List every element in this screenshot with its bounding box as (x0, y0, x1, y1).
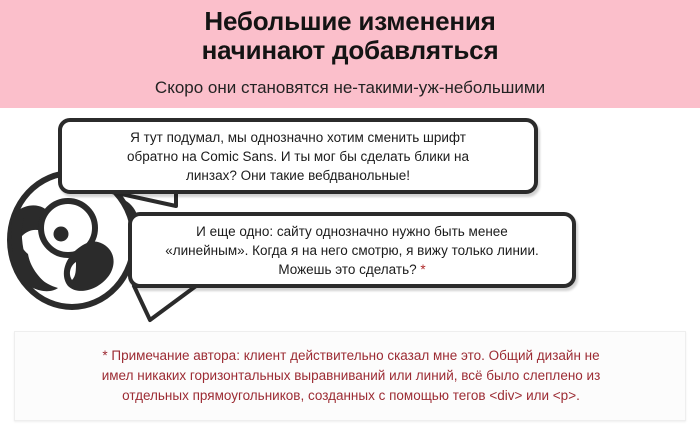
bubble-two-line-1: И еще одно: сайту однозначно нужно быть … (144, 222, 560, 241)
speech-bubble-second: И еще одно: сайту однозначно нужно быть … (128, 212, 576, 288)
comic-stage: Я тут подумал, мы однозначно хотим смени… (0, 108, 700, 325)
page-title-line-2: начинают добавляться (0, 36, 700, 65)
page-subtitle: Скоро они становятся не-такими-уж-неболь… (0, 78, 700, 98)
page-title-line-1: Небольшие изменения (0, 7, 700, 36)
author-note-line-3: отдельных прямоугольников, созданных с п… (15, 386, 687, 406)
speech-bubble-first-text: Я тут подумал, мы однозначно хотим смени… (74, 128, 522, 185)
author-note-box: * Примечание автора: клиент действительн… (14, 331, 686, 421)
author-note-line-2: имел никаких горизонтальных выравниваний… (15, 366, 687, 386)
author-note-text: * Примечание автора: клиент действительн… (15, 346, 687, 406)
bubble-one-line-2: обратно на Comic Sans. И ты мог бы сдела… (74, 147, 522, 166)
author-note-line-1: * Примечание автора: клиент действительн… (15, 346, 687, 366)
speech-bubble-first: Я тут подумал, мы однозначно хотим смени… (58, 118, 538, 194)
bubble-two-line-3: Можешь это сделать? * (144, 260, 560, 279)
header-banner: Небольшие изменения начинают добавляться… (0, 0, 700, 108)
speech-bubble-second-text: И еще одно: сайту однозначно нужно быть … (144, 222, 560, 279)
bubble-two-line-2: «линейным». Когда я на него смотрю, я ви… (144, 241, 560, 260)
footnote-reference-marker: * (420, 262, 425, 277)
bubble-one-line-1: Я тут подумал, мы однозначно хотим смени… (74, 128, 522, 147)
bubble-one-line-3: линзах? Они такие вебдванольные! (74, 166, 522, 185)
bubble-two-line-3-text: Можешь это сделать? (278, 262, 416, 277)
page-title: Небольшие изменения начинают добавляться (0, 7, 700, 65)
